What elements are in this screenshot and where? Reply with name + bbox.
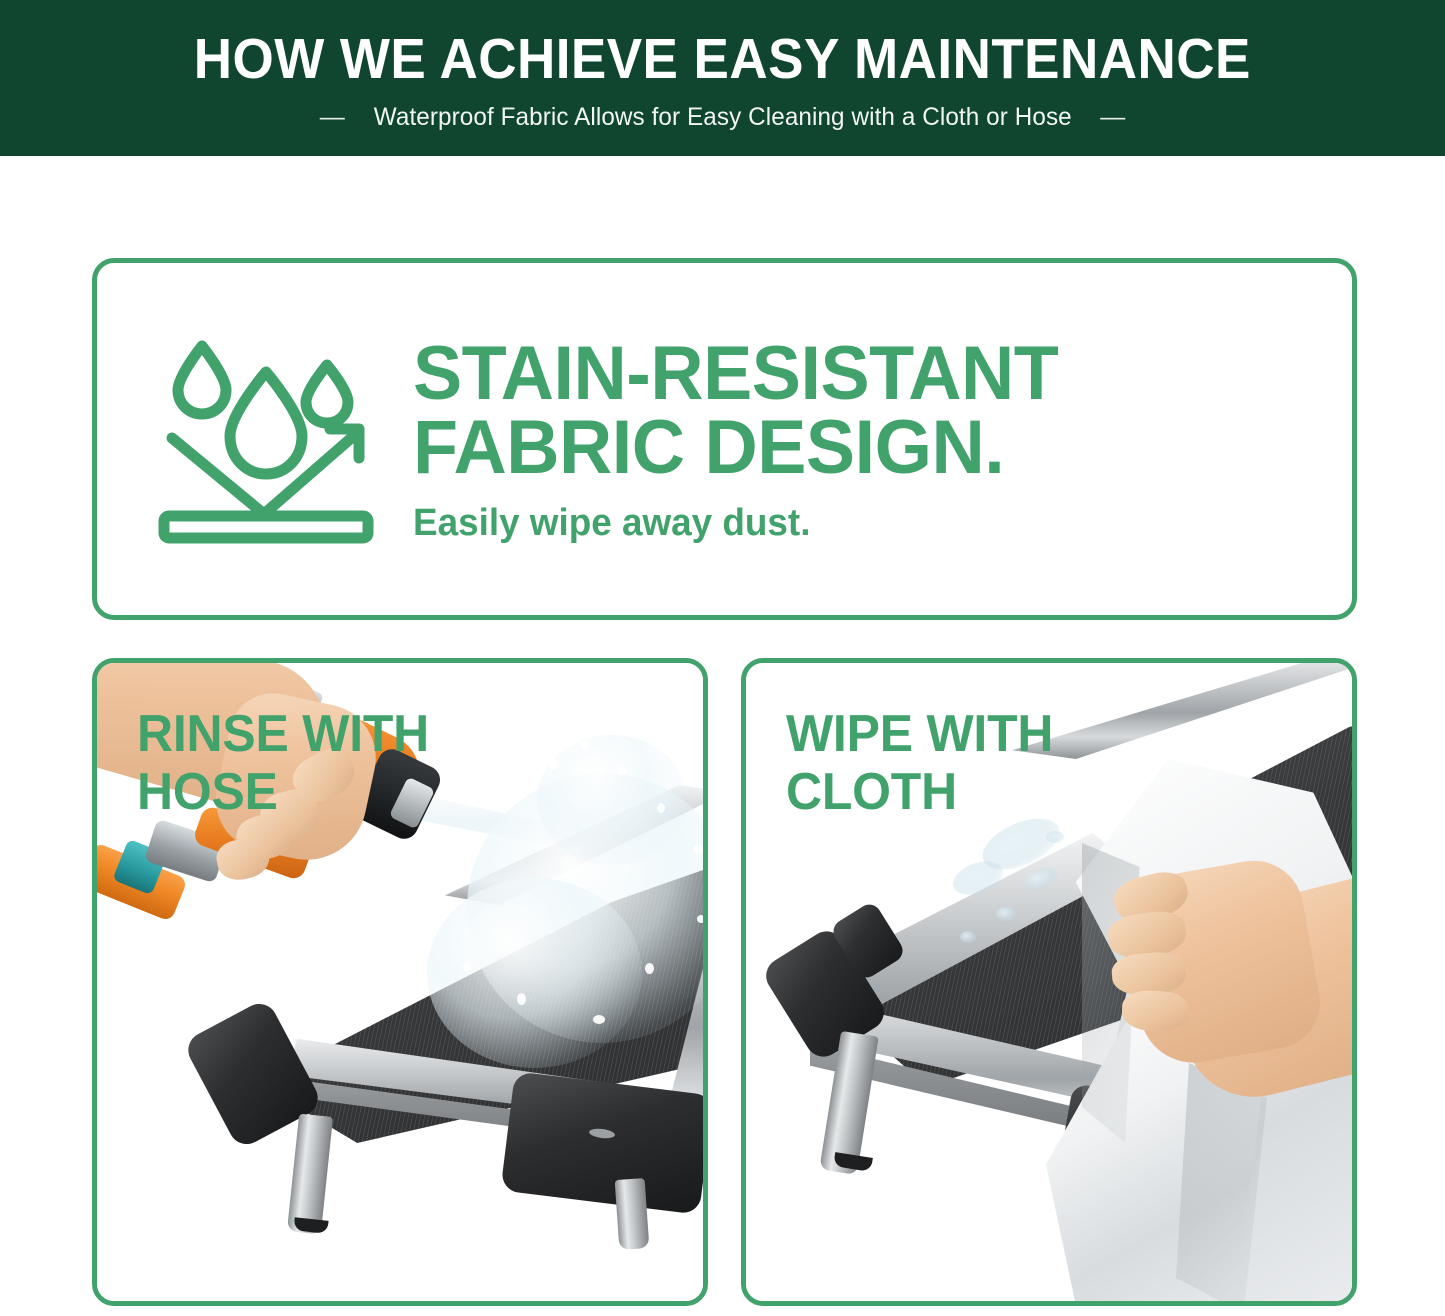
feature-title: STAIN-RESISTANT FABRIC DESIGN. — [413, 337, 1299, 484]
cot-right-leg — [615, 1178, 650, 1250]
water-droplet — [581, 741, 588, 750]
page-subtitle: Waterproof Fabric Allows for Easy Cleani… — [374, 103, 1072, 132]
water-bead-small — [960, 931, 976, 943]
water-droplet — [463, 963, 471, 971]
page-title: HOW WE ACHIEVE EASY MAINTENANCE — [194, 30, 1251, 88]
water-repellent-fabric-icon-svg — [146, 328, 386, 550]
water-droplet — [617, 767, 627, 775]
dash-left-decoration: — — [320, 105, 345, 130]
finger-pinky — [1121, 990, 1188, 1032]
wipe-with-cloth-card: WIPE WITH CLOTH — [741, 658, 1357, 1306]
cot-far-rail — [996, 663, 1352, 759]
water-droplet — [697, 915, 703, 923]
cot-right-corner-cap — [500, 1071, 703, 1214]
hand-spraying-hose-on-cot-photo — [97, 663, 703, 1301]
water-bead-small — [1046, 831, 1064, 843]
water-droplet — [645, 963, 654, 974]
feature-card: STAIN-RESISTANT FABRIC DESIGN. Easily wi… — [92, 258, 1357, 620]
rinse-with-hose-card: RINSE WITH HOSE — [92, 658, 708, 1306]
water-droplet — [693, 845, 703, 854]
water-droplet — [517, 993, 526, 1005]
header-subtitle-row: — Waterproof Fabric Allows for Easy Clea… — [320, 103, 1126, 132]
feature-text-block: STAIN-RESISTANT FABRIC DESIGN. Easily wi… — [413, 333, 1326, 544]
water-bead-small — [996, 907, 1016, 921]
water-droplet — [593, 1015, 605, 1024]
feature-subtitle: Easily wipe away dust. — [413, 503, 1299, 545]
water-repellent-fabric-icon — [141, 324, 391, 554]
water-droplet — [549, 759, 558, 770]
water-droplet — [657, 803, 665, 813]
dash-right-decoration: — — [1100, 105, 1125, 130]
water-splash-upper — [537, 735, 687, 865]
water-splash-secondary — [427, 878, 642, 1068]
hand-wiping-cot-with-cloth-photo — [746, 663, 1352, 1301]
content-area: STAIN-RESISTANT FABRIC DESIGN. Easily wi… — [0, 156, 1445, 1316]
header-banner: HOW WE ACHIEVE EASY MAINTENANCE — Waterp… — [0, 0, 1445, 156]
